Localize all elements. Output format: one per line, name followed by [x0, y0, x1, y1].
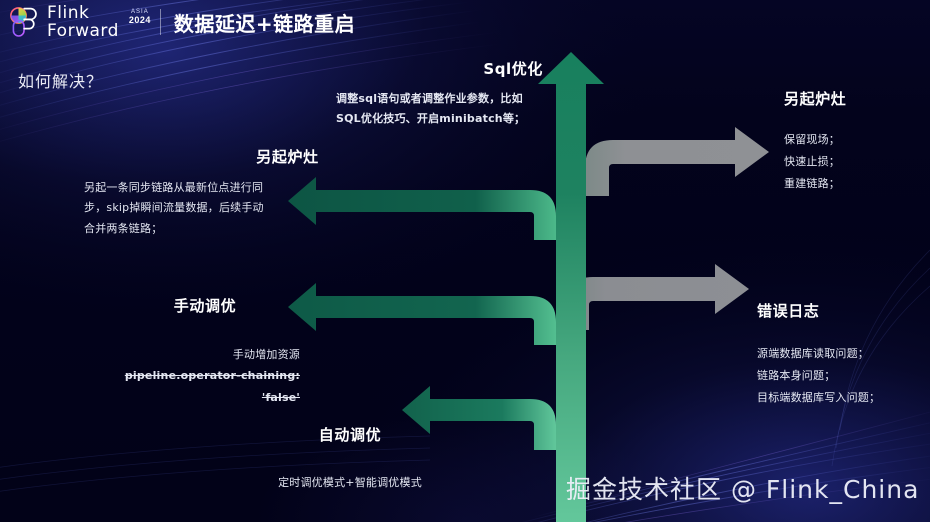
block-restart-right-title: 另起炉灶 — [784, 88, 924, 109]
block-sql-optimization-body: 调整sql语句或者调整作业参数，比如 SQL优化技巧、开启minibatch等； — [336, 89, 591, 130]
block-sql-optimization: Sql优化 调整sql语句或者调整作业参数，比如 SQL优化技巧、开启minib… — [336, 58, 591, 130]
watermark-text: 掘金技术社区 @ Flink_China — [566, 470, 919, 506]
restart-right-item-0: 保留现场； — [784, 129, 924, 151]
restart-right-item-2: 重建链路； — [784, 173, 924, 195]
slide-canvas: Flink Forward ASIA 2024 数据延迟+链路重启 如何解决？ — [0, 0, 930, 522]
manual-tuning-line-1: 手动增加资源 — [110, 344, 300, 365]
auto-tuning-line-1: 定时调优模式+智能调优模式 — [250, 473, 450, 493]
block-manual-tuning-title: 手动调优 — [110, 295, 300, 316]
error-log-item-0: 源端数据库读取问题； — [757, 343, 927, 365]
block-auto-tuning: 自动调优 定时调优模式+智能调优模式 — [250, 424, 450, 493]
block-restart-right: 另起炉灶 保留现场； 快速止损； 重建链路； — [784, 88, 924, 195]
block-manual-tuning-body: 手动增加资源 pipeline.operator-chaining: 'fals… — [110, 344, 300, 408]
restart-left-line-3: 合并两条链路； — [84, 219, 366, 239]
block-restart-left: 另起炉灶 另起一条同步链路从最新位点进行同 步，skip掉瞬间流量数据，后续手动… — [84, 146, 366, 239]
block-restart-left-title: 另起炉灶 — [84, 146, 366, 167]
block-auto-tuning-body: 定时调优模式+智能调优模式 — [250, 473, 450, 493]
block-error-log-body: 源端数据库读取问题； 链路本身问题； 目标端数据库写入问题； — [757, 343, 927, 409]
block-restart-left-body: 另起一条同步链路从最新位点进行同 步，skip掉瞬间流量数据，后续手动 合并两条… — [84, 178, 366, 239]
block-error-log: 错误日志 源端数据库读取问题； 链路本身问题； 目标端数据库写入问题； — [757, 300, 927, 409]
block-sql-optimization-title: Sql优化 — [336, 58, 591, 79]
error-log-item-2: 目标端数据库写入问题； — [757, 387, 927, 409]
error-log-item-1: 链路本身问题； — [757, 365, 927, 387]
block-manual-tuning: 手动调优 手动增加资源 pipeline.operator-chaining: … — [110, 295, 300, 408]
manual-tuning-line-2: pipeline.operator-chaining: — [110, 365, 300, 386]
restart-right-item-1: 快速止损； — [784, 151, 924, 173]
block-error-log-title: 错误日志 — [757, 300, 927, 321]
restart-left-line-2: 步，skip掉瞬间流量数据，后续手动 — [84, 198, 366, 218]
sql-line-2: SQL优化技巧、开启minibatch等； — [336, 112, 525, 125]
block-auto-tuning-title: 自动调优 — [250, 424, 450, 445]
gray-right-arrow-lower — [565, 264, 749, 330]
sql-line-1: 调整sql语句或者调整作业参数，比如 — [336, 92, 523, 105]
green-left-arrow-middle — [288, 283, 556, 345]
gray-right-arrow-upper — [585, 127, 769, 196]
manual-tuning-line-3: 'false' — [110, 387, 300, 408]
restart-left-line-1: 另起一条同步链路从最新位点进行同 — [84, 178, 366, 198]
block-restart-right-body: 保留现场； 快速止损； 重建链路； — [784, 129, 924, 195]
